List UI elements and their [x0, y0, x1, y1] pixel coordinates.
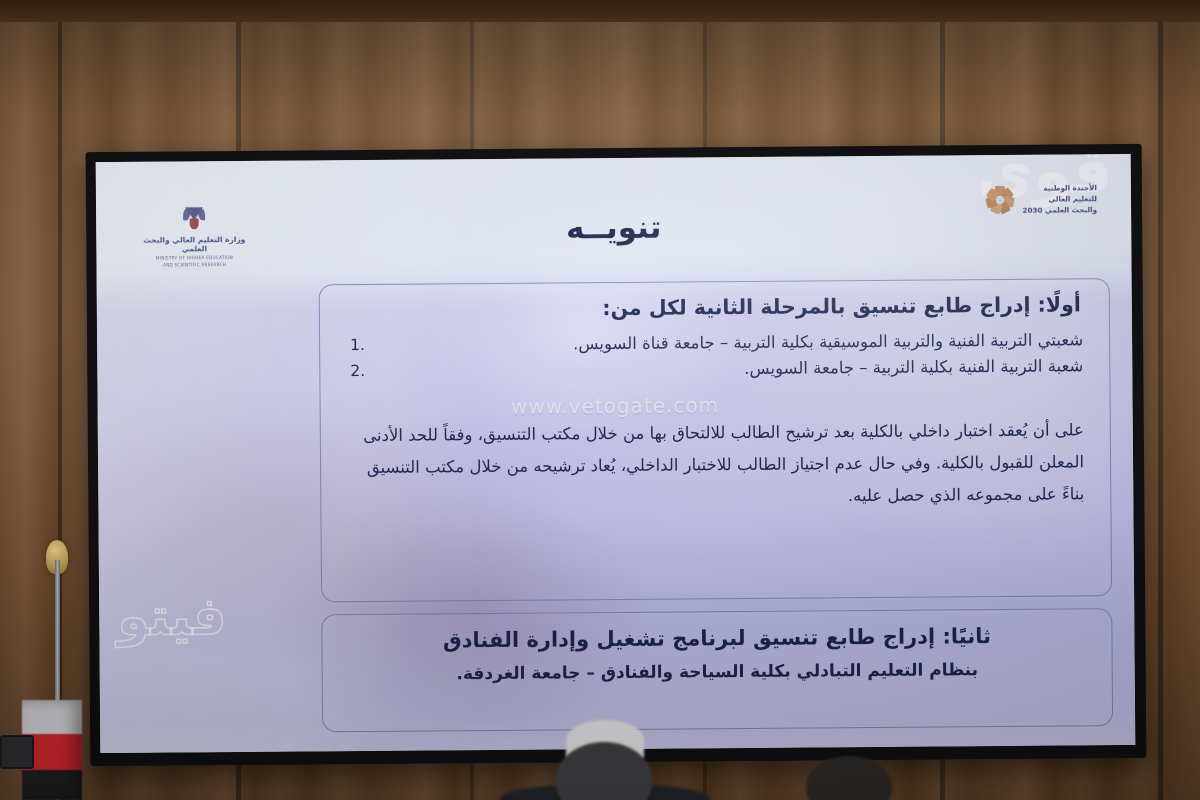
list-item: 2. شعبة التربية الفنية بكلية التربية – ج…: [346, 354, 1083, 387]
photo-scene: وزارة التعليم العالي والبحث العلمي MINIS…: [0, 0, 1200, 800]
presentation-screen: وزارة التعليم العالي والبحث العلمي MINIS…: [86, 144, 1147, 766]
strategy-line-1: الأجندة الوطنية: [1022, 182, 1097, 194]
section-two-box: ثانيًا: إدراج طابع تنسيق لبرنامج تشغيل و…: [321, 608, 1113, 732]
section-one-box: أولًا: إدراج طابع تنسيق بالمرحلة الثانية…: [319, 278, 1112, 602]
wall-top-trim: [0, 0, 1200, 22]
wall-outlet-box: [0, 735, 34, 769]
list-item-number: 2.: [350, 359, 365, 384]
ministry-logo-english-line-1: MINISTRY OF HIGHER EDUCATION: [142, 255, 246, 262]
section-one-list: 1. شعبتي التربية الفنية والتربية الموسيق…: [346, 327, 1083, 386]
list-item-text: شعبتي التربية الفنية والتربية الموسيقية …: [573, 330, 1083, 353]
screen-display-area: وزارة التعليم العالي والبحث العلمي MINIS…: [96, 154, 1136, 753]
section-one-paragraph: على أن يُعقد اختبار داخلي بالكلية بعد تر…: [347, 414, 1085, 516]
list-item-text: شعبة التربية الفنية بكلية التربية – جامع…: [744, 357, 1083, 379]
section-two-heading: ثانيًا: إدراج طابع تنسيق لبرنامج تشغيل و…: [348, 621, 1085, 655]
slide-content: وزارة التعليم العالي والبحث العلمي MINIS…: [96, 154, 1136, 753]
strategy-line-2: للتعليم العالي: [1022, 193, 1097, 205]
ministry-logo-english-line-2: AND SCIENTIFIC RESEARCH: [142, 262, 246, 269]
section-one-heading: أولًا: إدراج طابع تنسيق بالمرحلة الثانية…: [346, 291, 1083, 324]
section-two-subtitle: بنظام التعليم التبادلي بكلية السياحة وال…: [349, 660, 1086, 686]
veto-logo-watermark: فيتو: [117, 591, 227, 644]
slide-title: تنويــه: [96, 206, 1131, 250]
list-item-number: 1.: [350, 333, 365, 358]
